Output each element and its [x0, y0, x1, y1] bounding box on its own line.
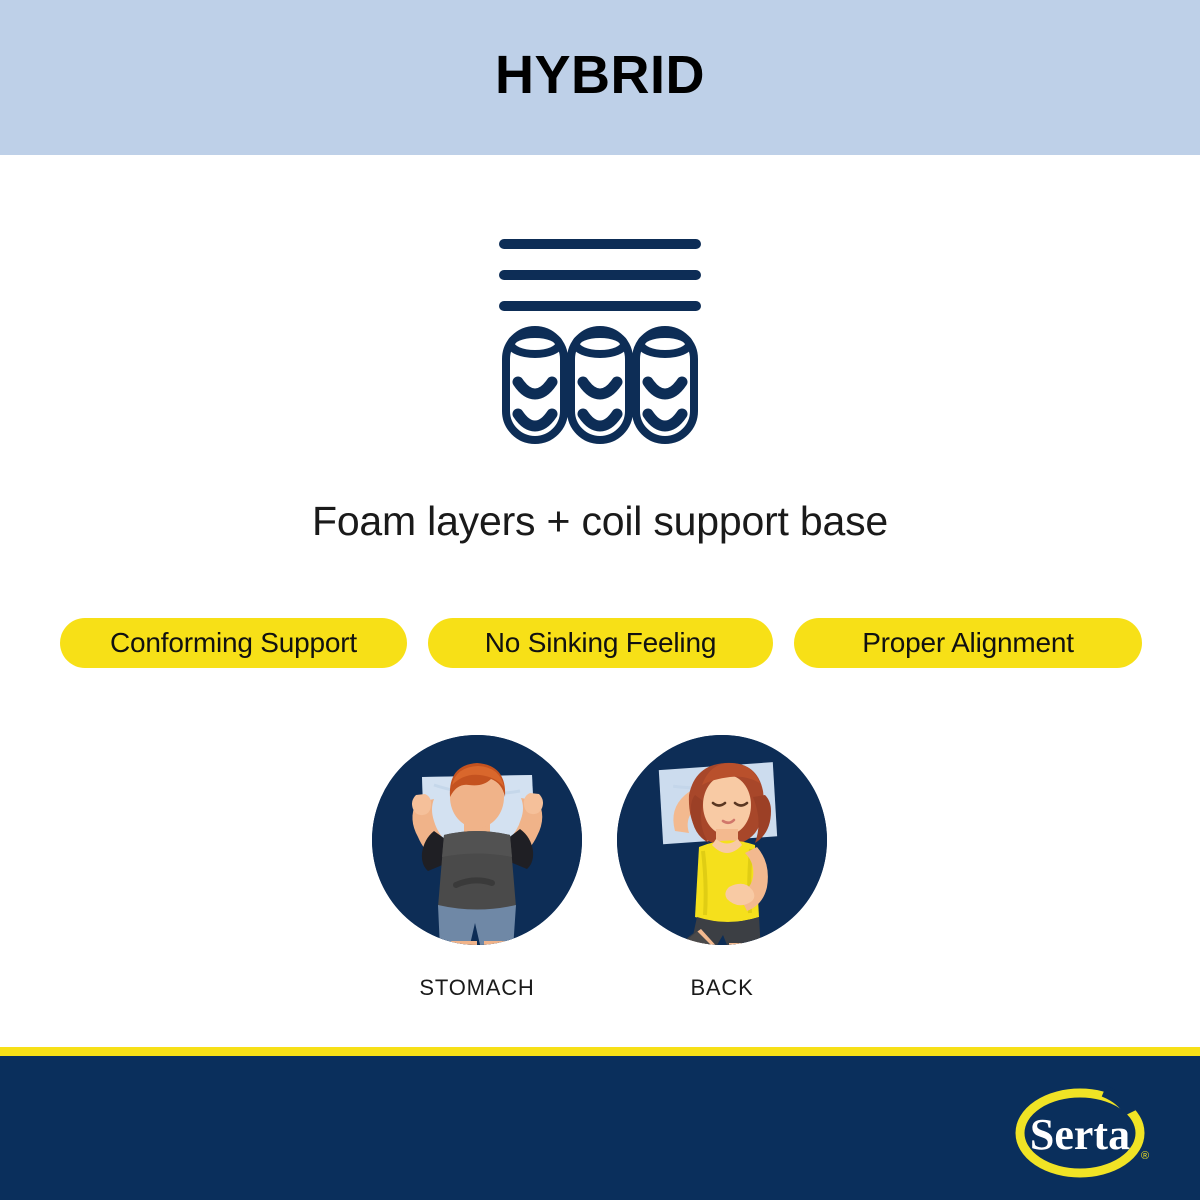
back-sleeper-illustration: [617, 735, 827, 945]
serta-logo[interactable]: Serta ®: [1008, 1083, 1158, 1183]
hybrid-mattress-infographic: HYBRID: [0, 0, 1200, 1200]
feature-pill-no-sinking-feeling[interactable]: No Sinking Feeling: [428, 618, 773, 668]
feature-pill-label: Conforming Support: [110, 627, 357, 659]
registered-trademark-icon: ®: [1141, 1150, 1149, 1162]
footer-accent-stripe: [0, 1047, 1200, 1056]
stomach-sleeper-illustration: [372, 735, 582, 945]
sleep-position-back[interactable]: BACK: [614, 735, 830, 1001]
sleep-position-stomach[interactable]: STOMACH: [369, 735, 585, 1001]
serta-wordmark: Serta: [1030, 1110, 1130, 1159]
feature-pill-conforming-support[interactable]: Conforming Support: [60, 618, 407, 668]
hybrid-mattress-icon: [480, 222, 720, 452]
mattress-description: Foam layers + coil support base: [0, 498, 1200, 545]
feature-pill-label: Proper Alignment: [862, 627, 1074, 659]
feature-pill-row: Conforming Support No Sinking Feeling Pr…: [60, 618, 1142, 668]
feature-pill-proper-alignment[interactable]: Proper Alignment: [794, 618, 1142, 668]
feature-pill-label: No Sinking Feeling: [485, 627, 716, 659]
sleep-position-label: BACK: [614, 975, 830, 1001]
sleep-position-group: STOMACH: [0, 735, 1200, 1025]
page-title: HYBRID: [0, 44, 1200, 106]
sleep-position-label: STOMACH: [369, 975, 585, 1001]
